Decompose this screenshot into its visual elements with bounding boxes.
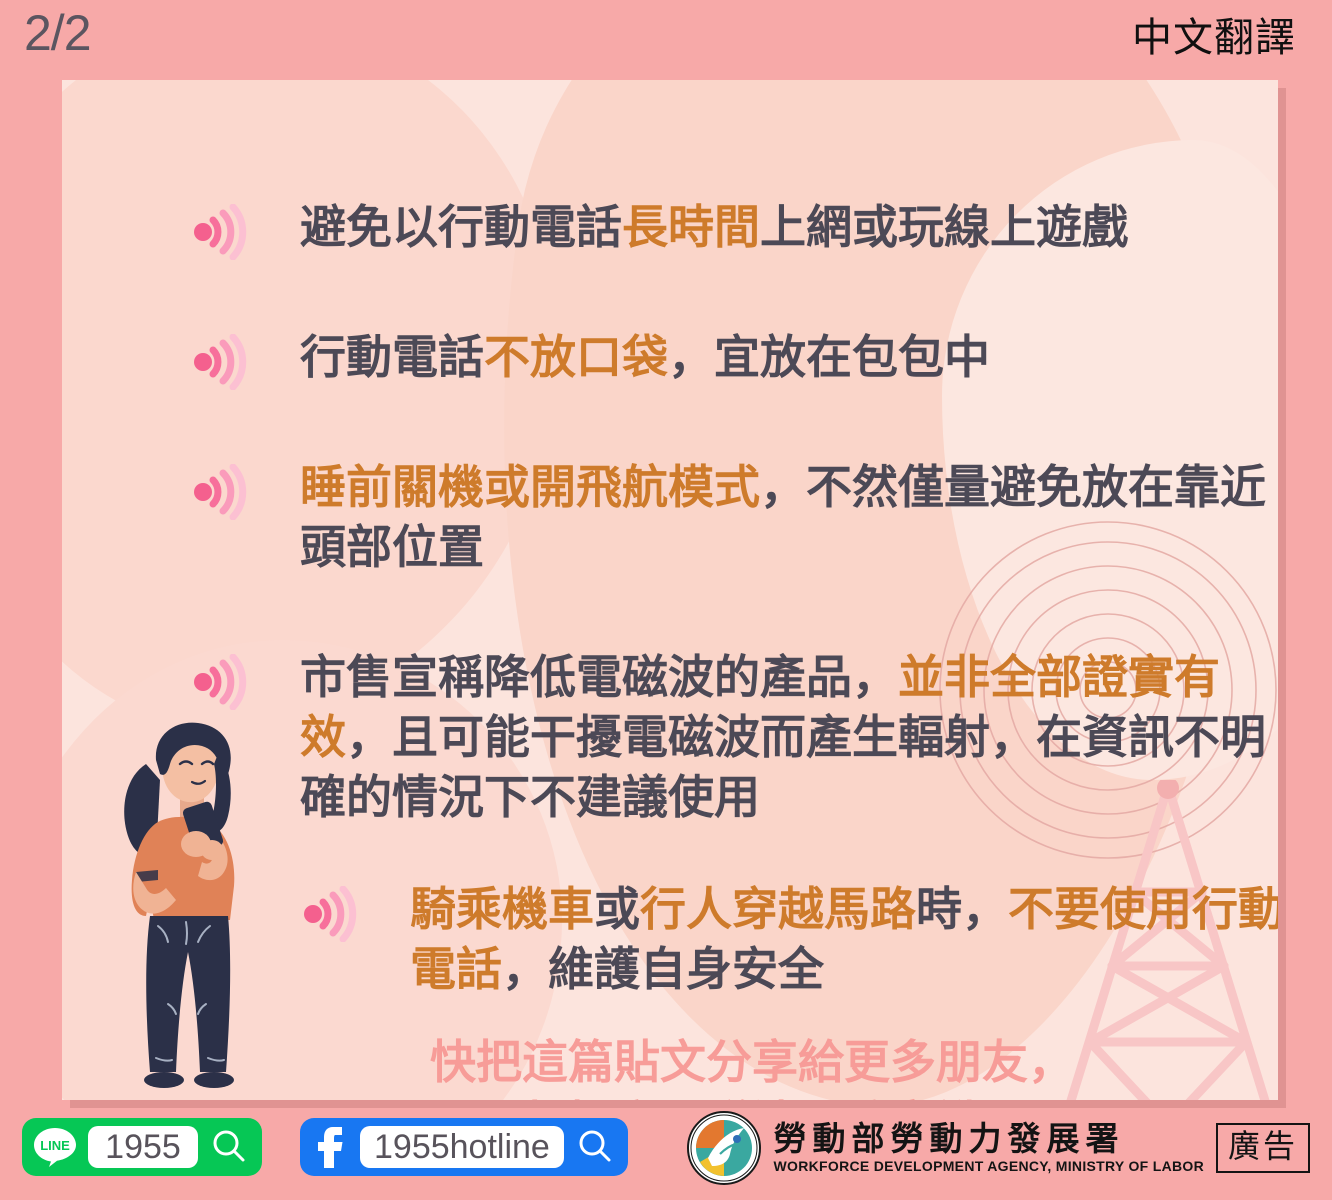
bullet-item-5: 騎乘機車或行人穿越馬路時，不要使用行動電話，維護自身安全 bbox=[300, 880, 1278, 1000]
agency-names: 勞動部勞動力發展署 WORKFORCE DEVELOPMENT AGENCY, … bbox=[774, 1121, 1204, 1174]
wifi-signal-icon bbox=[190, 654, 248, 710]
text-segment: 避免以行動電話 bbox=[300, 201, 622, 253]
bullet-text-3: 睡前關機或開飛航模式，不然僅量避免放在靠近頭部位置 bbox=[300, 458, 1270, 578]
ad-badge: 廣告 bbox=[1216, 1123, 1310, 1172]
text-segment: ，且可能干擾電磁波而產生輻射，在資訊 bbox=[346, 711, 1174, 763]
text-segment: 不要使用 bbox=[1008, 883, 1192, 935]
translate-label: 中文翻譯 bbox=[1132, 18, 1296, 58]
bullet-item-3: 睡前關機或開飛航模式，不然僅量避免放在靠近頭部位置 bbox=[190, 458, 1270, 578]
bullet-item-1: 避免以行動電話長時間上網或玩線上遊戲 bbox=[190, 198, 1128, 260]
wifi-signal-icon bbox=[190, 204, 248, 260]
text-segment: 時， bbox=[916, 883, 1008, 935]
bullet-text-2: 行動電話不放口袋，宜放在包包中 bbox=[300, 328, 990, 388]
facebook-page-value: 1955hotline bbox=[360, 1126, 564, 1168]
closing-message: 快把這篇貼文分享給更多朋友， 一起提高電磁波預防意識！ bbox=[362, 1032, 1142, 1100]
page-counter: 2/2 bbox=[24, 8, 91, 58]
text-segment: ，維護自身安全 bbox=[502, 943, 824, 995]
text-segment: 或 bbox=[594, 883, 640, 935]
bullet-item-2: 行動電話不放口袋，宜放在包包中 bbox=[190, 328, 990, 390]
bullet-text-5: 騎乘機車或行人穿越馬路時，不要使用行動電話，維護自身安全 bbox=[410, 880, 1278, 1000]
svg-text:LINE: LINE bbox=[40, 1138, 70, 1153]
line-contact-pill[interactable]: LINE 1955 bbox=[22, 1118, 262, 1176]
content-card: 避免以行動電話長時間上網或玩線上遊戲 行動電話不放口袋，宜放在包包中 睡前關機或… bbox=[62, 80, 1278, 1100]
bullet-text-1: 避免以行動電話長時間上網或玩線上遊戲 bbox=[300, 198, 1128, 258]
bullet-text-4: 市售宣稱降低電磁波的產品，並非全部證實有效，且可能干擾電磁波而產生輻射，在資訊不… bbox=[300, 648, 1278, 827]
agency-name-zh: 勞動部勞動力發展署 bbox=[774, 1121, 1204, 1158]
bullet-item-4: 市售宣稱降低電磁波的產品，並非全部證實有效，且可能干擾電磁波而產生輻射，在資訊不… bbox=[190, 648, 1278, 827]
text-segment: 長時間 bbox=[622, 201, 760, 253]
workforce-development-agency-emblem bbox=[686, 1110, 762, 1186]
wifi-signal-icon bbox=[190, 334, 248, 390]
text-segment: ，宜放在包包中 bbox=[668, 331, 990, 383]
text-segment: 市售宣稱降低電磁波的產品， bbox=[300, 651, 898, 703]
wifi-signal-icon bbox=[300, 886, 358, 942]
agency-branding: 勞動部勞動力發展署 WORKFORCE DEVELOPMENT AGENCY, … bbox=[686, 1110, 1311, 1186]
facebook-contact-pill[interactable]: 1955hotline bbox=[300, 1118, 628, 1176]
text-segment: 睡前關機或開飛航模式 bbox=[300, 461, 760, 513]
wifi-signal-icon bbox=[190, 464, 248, 520]
closing-line-1: 快把這篇貼文分享給更多朋友， bbox=[430, 1036, 1074, 1088]
text-segment: 上網或玩線上遊戲 bbox=[760, 201, 1128, 253]
text-segment: 並非全部證實 bbox=[898, 651, 1174, 703]
text-segment: 不放口袋 bbox=[484, 331, 668, 383]
footer-bar: LINE 1955 1955hotline bbox=[0, 1100, 1332, 1200]
agency-name-en: WORKFORCE DEVELOPMENT AGENCY, MINISTRY O… bbox=[774, 1159, 1204, 1174]
search-icon[interactable] bbox=[208, 1126, 250, 1168]
closing-line-2: 一起提高電磁波預防意識！ bbox=[362, 1093, 1142, 1100]
search-icon[interactable] bbox=[574, 1126, 616, 1168]
bullet-list: 避免以行動電話長時間上網或玩線上遊戲 行動電話不放口袋，宜放在包包中 睡前關機或… bbox=[62, 80, 1278, 1100]
text-segment: 行人穿越馬路 bbox=[640, 883, 916, 935]
line-id-value: 1955 bbox=[88, 1126, 198, 1168]
header-bar: 2/2 中文翻譯 bbox=[0, 0, 1332, 80]
text-segment: 行動電話 bbox=[300, 331, 484, 383]
facebook-logo-icon bbox=[310, 1125, 350, 1169]
text-segment: ，不然僅量避免放在 bbox=[760, 461, 1174, 513]
text-segment: 騎乘機車 bbox=[410, 883, 594, 935]
line-logo-icon: LINE bbox=[32, 1125, 78, 1169]
